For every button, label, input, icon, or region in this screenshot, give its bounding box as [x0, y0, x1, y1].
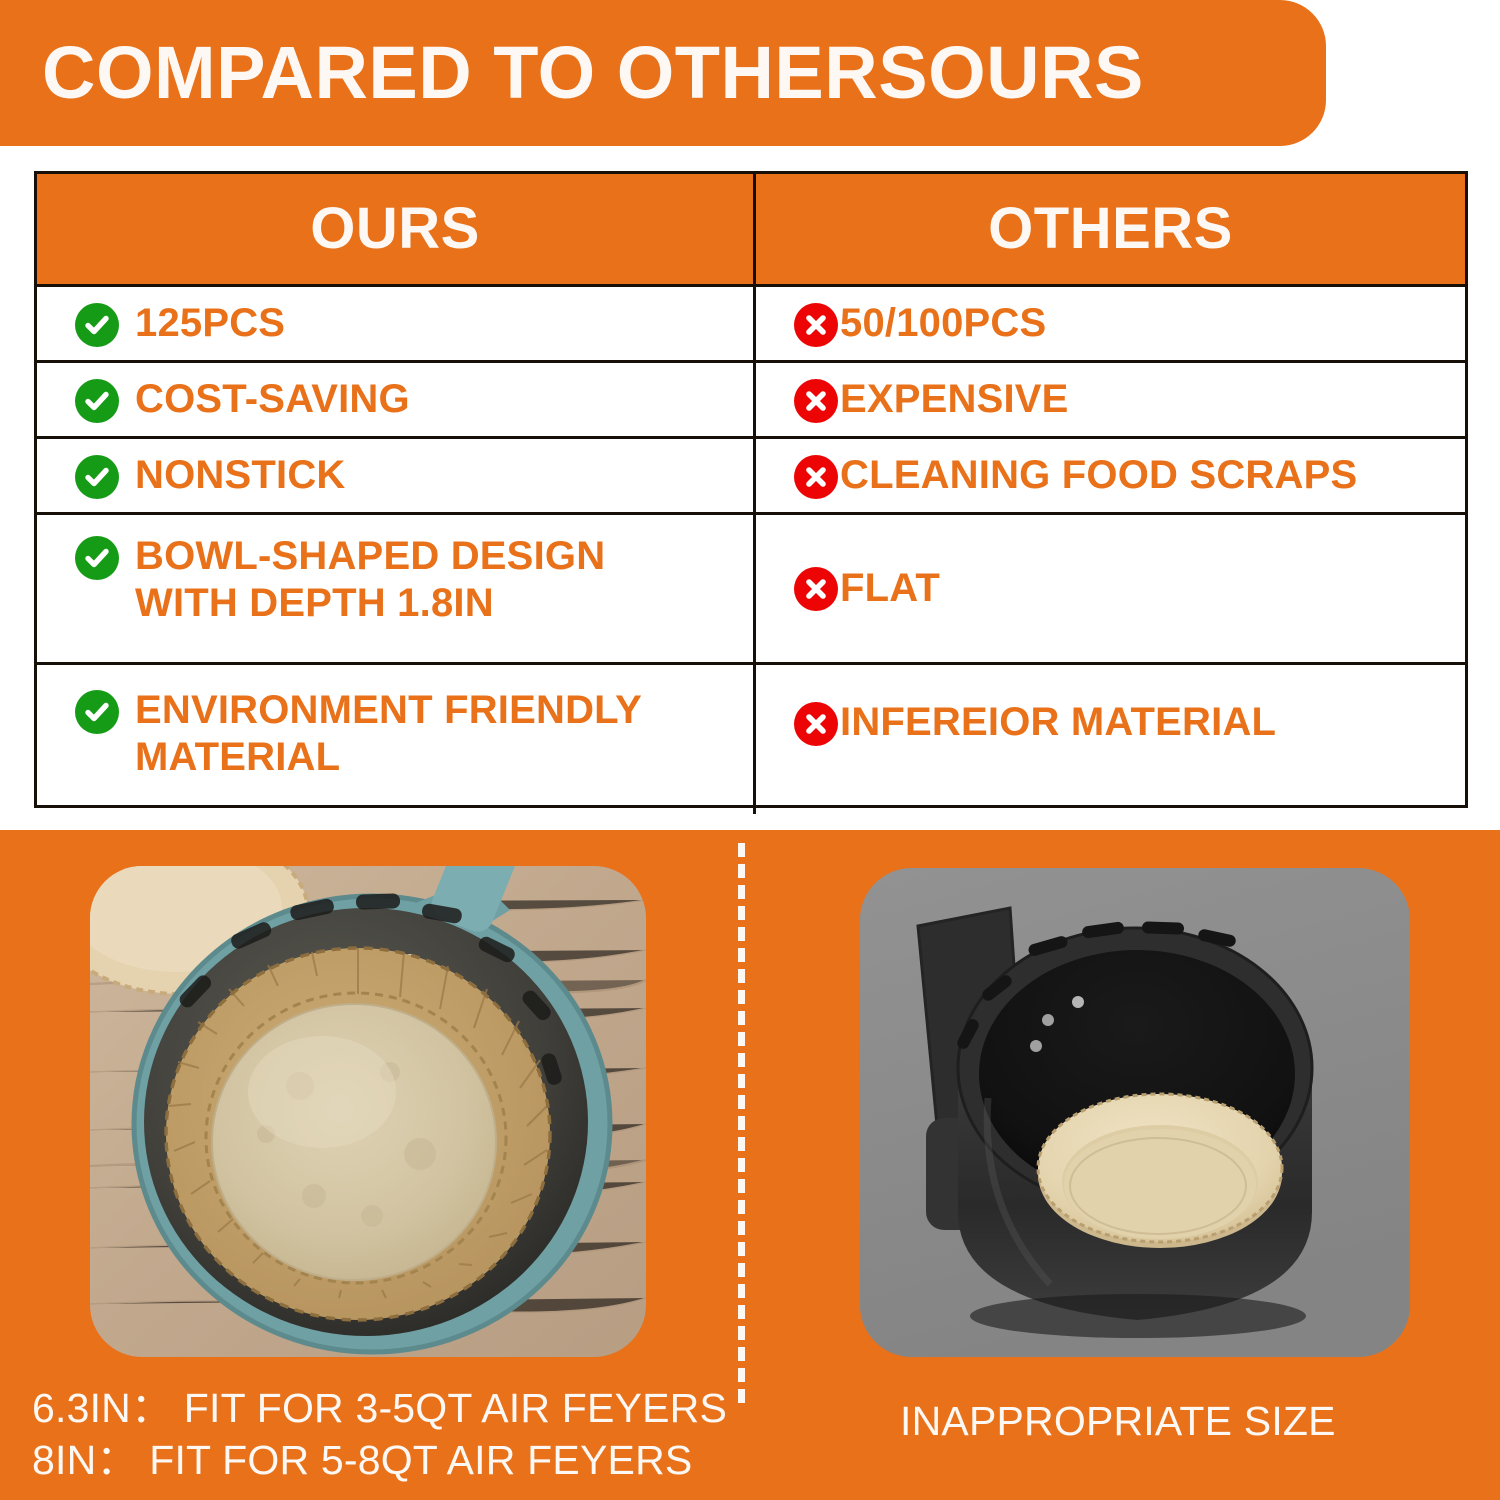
column-header-ours-label: OURS — [310, 200, 480, 258]
feature-ours-3-label: NONSTICK — [135, 452, 346, 499]
air-fryer-basket-with-undersized-liner-photo — [860, 868, 1410, 1357]
check-circle-icon — [75, 303, 119, 347]
caption-others: INAPPROPRIATE SIZE — [900, 1395, 1336, 1447]
page-title: COMPARED TO OTHERSOURS — [42, 36, 1144, 110]
feature-others-3-label: CLEANING FOOD SCRAPS — [840, 452, 1357, 499]
feature-others-4-label: FLAT — [840, 565, 940, 612]
feature-others-3: CLEANING FOOD SCRAPS — [794, 452, 1357, 499]
cross-circle-icon — [794, 379, 838, 423]
column-header-ours: OURS — [37, 174, 756, 284]
check-circle-icon — [75, 379, 119, 423]
cell-ours-2: COST-SAVING — [37, 363, 756, 436]
feature-ours-4-label: BOWL-SHAPED DESIGN WITH DEPTH 1.8IN — [135, 533, 605, 627]
column-header-others-label: OTHERS — [988, 200, 1233, 258]
feature-ours-2-label: COST-SAVING — [135, 376, 410, 423]
feature-ours-5: ENVIRONMENT FRIENDLY MATERIAL — [75, 687, 642, 781]
check-circle-icon — [75, 536, 119, 580]
feature-others-5: INFEREIOR MATERIAL — [794, 699, 1276, 746]
feature-others-5-label: INFEREIOR MATERIAL — [840, 699, 1276, 746]
cell-others-3: CLEANING FOOD SCRAPS — [756, 439, 1465, 512]
cross-circle-icon — [794, 702, 838, 746]
cell-others-5: INFEREIOR MATERIAL — [756, 665, 1465, 814]
cell-others-4: FLAT — [756, 515, 1465, 662]
cell-others-2: EXPENSIVE — [756, 363, 1465, 436]
cell-ours-5: ENVIRONMENT FRIENDLY MATERIAL — [37, 665, 756, 814]
table-row: ENVIRONMENT FRIENDLY MATERIAL INFEREIOR … — [37, 662, 1465, 814]
table-header-row: OURS OTHERS — [37, 174, 1465, 284]
photo-divider — [738, 843, 745, 1403]
cell-ours-4: BOWL-SHAPED DESIGN WITH DEPTH 1.8IN — [37, 515, 756, 662]
table-row: BOWL-SHAPED DESIGN WITH DEPTH 1.8IN FLAT — [37, 512, 1465, 662]
cross-circle-icon — [794, 567, 838, 611]
comparison-table: OURS OTHERS 125PCS 50/100PCS — [34, 171, 1468, 808]
table-row: NONSTICK CLEANING FOOD SCRAPS — [37, 436, 1465, 512]
feature-others-2-label: EXPENSIVE — [840, 376, 1069, 423]
cross-circle-icon — [794, 303, 838, 347]
feature-others-1-label: 50/100PCS — [840, 300, 1046, 347]
cell-ours-3: NONSTICK — [37, 439, 756, 512]
check-circle-icon — [75, 690, 119, 734]
feature-others-1: 50/100PCS — [794, 300, 1046, 347]
feature-ours-3: NONSTICK — [75, 452, 346, 499]
feature-ours-2: COST-SAVING — [75, 376, 410, 423]
feature-ours-1: 125PCS — [75, 300, 285, 347]
column-header-others: OTHERS — [756, 174, 1465, 284]
table-row: 125PCS 50/100PCS — [37, 284, 1465, 360]
feature-ours-1-label: 125PCS — [135, 300, 285, 347]
cell-ours-1: 125PCS — [37, 287, 756, 360]
header-banner: COMPARED TO OTHERSOURS — [0, 0, 1326, 146]
air-fryer-basket-with-fitted-liner-photo — [90, 866, 646, 1357]
feature-ours-5-label: ENVIRONMENT FRIENDLY MATERIAL — [135, 687, 642, 781]
feature-others-2: EXPENSIVE — [794, 376, 1069, 423]
check-circle-icon — [75, 455, 119, 499]
cell-others-1: 50/100PCS — [756, 287, 1465, 360]
feature-ours-4: BOWL-SHAPED DESIGN WITH DEPTH 1.8IN — [75, 533, 605, 627]
table-row: COST-SAVING EXPENSIVE — [37, 360, 1465, 436]
caption-ours-line-2: 8IN： FIT FOR 5-8QT AIR FEYERS — [32, 1437, 692, 1483]
cross-circle-icon — [794, 455, 838, 499]
feature-others-4: FLAT — [794, 565, 940, 612]
caption-ours-line-1: 6.3IN： FIT FOR 3-5QT AIR FEYERS — [32, 1385, 727, 1431]
caption-ours: 6.3IN： FIT FOR 3-5QT AIR FEYERS8IN： FIT … — [32, 1382, 727, 1487]
